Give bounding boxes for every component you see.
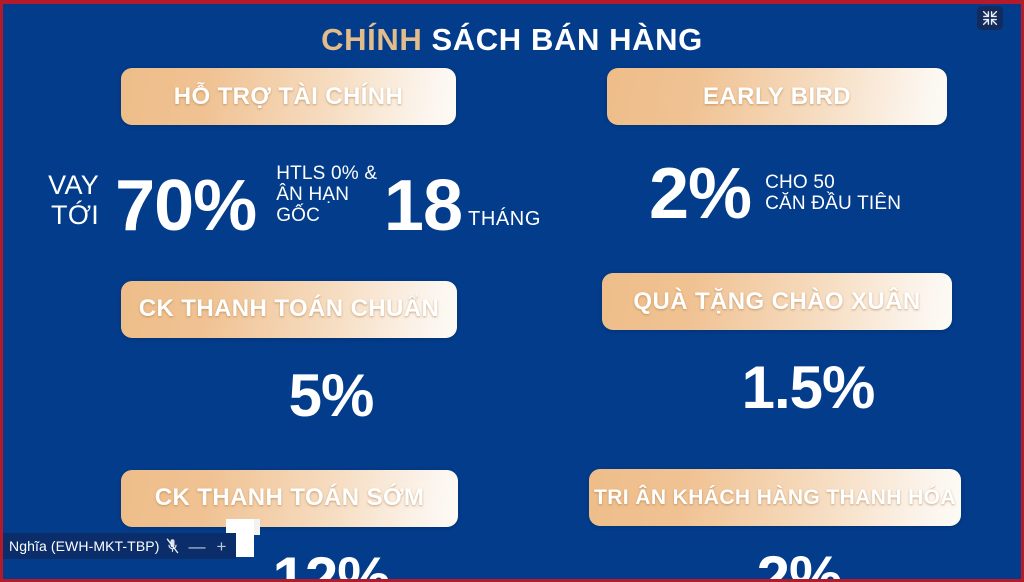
value-row-early-bird: 2% CHO 50 CĂN ĐẦU TIÊN	[563, 164, 1009, 224]
value-spring-gift: 1.5%	[742, 358, 875, 418]
value-row-loyalty: 2%	[563, 548, 1009, 579]
value-early-payment-discount: 12%	[272, 549, 389, 579]
badge-ck-thanh-toan-chuan[interactable]: CK THANH TOÁN CHUẨN	[121, 281, 457, 338]
badge-label: EARLY BIRD	[703, 83, 851, 111]
lead-text-vay-toi: VAY TỚI	[45, 171, 99, 236]
badge-label: CK THANH TOÁN SỚM	[155, 484, 425, 512]
page-title-rest: SÁCH BÁN HÀNG	[432, 22, 703, 57]
zoom-in-button[interactable]: +	[214, 538, 228, 555]
badge-ck-thanh-toan-som[interactable]: CK THANH TOÁN SỚM	[121, 470, 458, 527]
badge-early-bird[interactable]: EARLY BIRD	[607, 68, 947, 125]
right-column: EARLY BIRD 2% CHO 50 CĂN ĐẦU TIÊN QUÀ TẶ…	[563, 68, 1009, 579]
badge-qua-tang-chao-xuan[interactable]: QUÀ TẶNG CHÀO XUÂN	[602, 273, 952, 330]
badge-label: CK THANH TOÁN CHUẨN	[139, 295, 439, 323]
note-htls-grace: HTLS 0% & ÂN HẠN GỐC	[276, 164, 383, 237]
screen-share-view: CHÍNH SÁCH BÁN HÀNG HỖ TRỢ TÀI CHÍNH VAY…	[0, 0, 1024, 582]
participant-name: Nghĩa (EWH-MKT-TBP)	[9, 538, 159, 554]
exit-fullscreen-icon	[982, 10, 998, 26]
zoom-out-button[interactable]: —	[186, 538, 207, 555]
note-first-50-units: CHO 50 CĂN ĐẦU TIÊN	[765, 173, 901, 225]
presentation-slide: CHÍNH SÁCH BÁN HÀNG HỖ TRỢ TÀI CHÍNH VAY…	[3, 4, 1021, 579]
left-column: HỖ TRỢ TÀI CHÍNH VAY TỚI 70% HTLS 0% & Â…	[21, 68, 541, 579]
value-row-standard-discount: 5%	[21, 366, 541, 426]
badge-label: HỖ TRỢ TÀI CHÍNH	[174, 83, 404, 111]
badge-ho-tro-tai-chinh[interactable]: HỖ TRỢ TÀI CHÍNH	[121, 68, 456, 125]
spacer	[21, 426, 541, 470]
value-early-bird-percent: 2%	[649, 164, 751, 224]
unit-months: THÁNG	[468, 208, 541, 237]
value-row-spring-gift: 1.5%	[563, 358, 1009, 418]
spacer	[21, 237, 541, 281]
value-row-financial-support: VAY TỚI 70% HTLS 0% & ÂN HẠN GỐC 18 THÁN…	[21, 164, 541, 237]
badge-tri-an-khach-hang-thanh-hoa[interactable]: TRI ÂN KHÁCH HÀNG THANH HÓA	[589, 469, 961, 526]
value-standard-discount: 5%	[289, 366, 374, 426]
spacer	[563, 224, 1009, 273]
mic-muted-icon[interactable]	[166, 538, 179, 554]
participant-name-bar: Nghĩa (EWH-MKT-TBP) — +	[3, 533, 236, 559]
value-loan-percent: 70%	[115, 176, 256, 236]
value-loyalty-discount: 2%	[757, 548, 842, 579]
badge-label: QUÀ TẶNG CHÀO XUÂN	[633, 288, 920, 316]
exit-fullscreen-button[interactable]	[977, 6, 1003, 30]
spacer	[563, 418, 1009, 469]
page-title-highlight: CHÍNH	[321, 22, 422, 57]
badge-label: TRI ÂN KHÁCH HÀNG THANH HÓA	[594, 486, 956, 510]
value-grace-months: 18	[384, 176, 462, 236]
page-title: CHÍNH SÁCH BÁN HÀNG	[3, 22, 1021, 58]
